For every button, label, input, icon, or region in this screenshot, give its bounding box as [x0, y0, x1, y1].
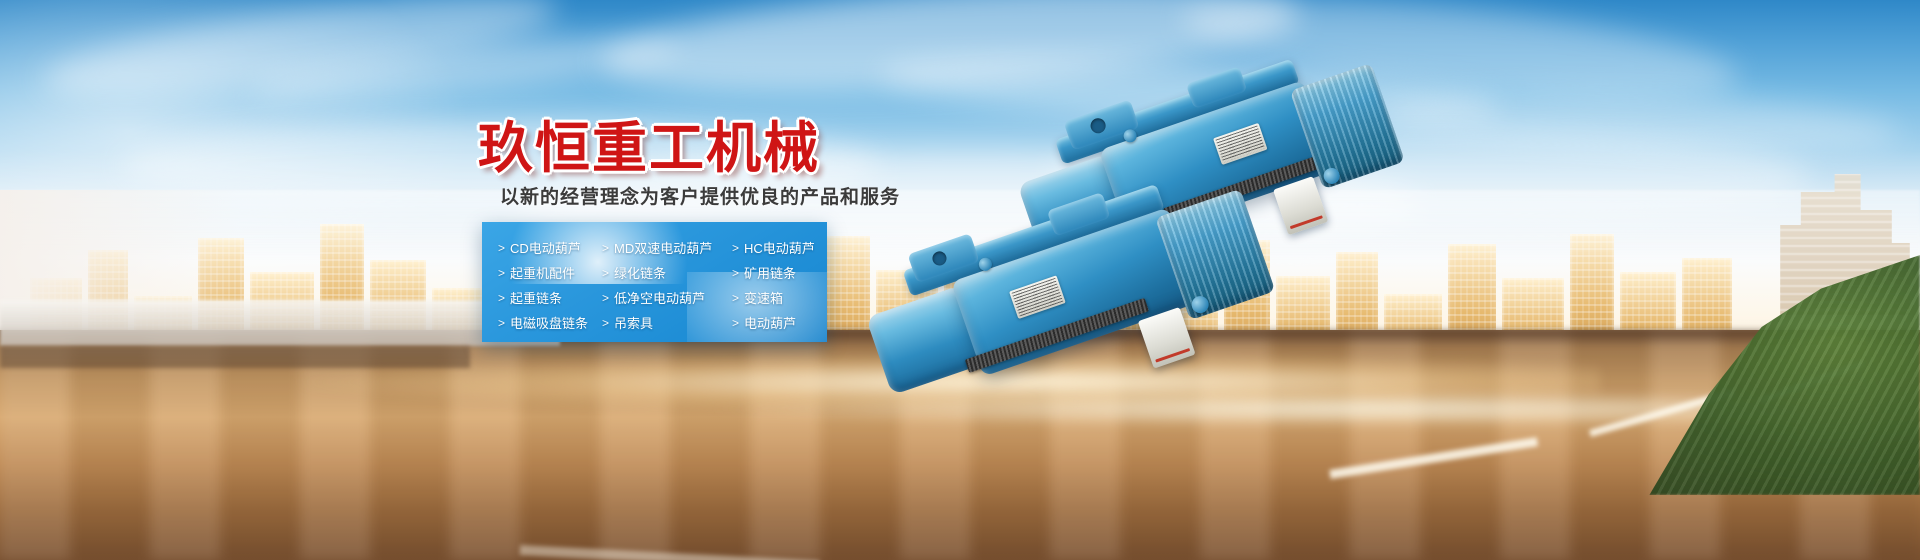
guardrail-shadow — [0, 346, 470, 368]
chevron-right-icon: > — [498, 316, 505, 331]
product-label: 变速箱 — [744, 291, 783, 306]
product-link[interactable]: > 电磁吸盘链条 — [498, 316, 602, 331]
product-label: 起重机配件 — [510, 266, 575, 281]
product-label: 低净空电动葫芦 — [614, 291, 705, 306]
chevron-right-icon: > — [498, 291, 505, 306]
page-title: 玖恒重工机械 — [478, 118, 898, 180]
product-list-panel: > CD电动葫芦 > MD双速电动葫芦 > HC电动葫芦 > 起重机配件 > 绿… — [482, 222, 827, 342]
tagline: 以新的经营理念为客户提供优良的产品和服务 — [500, 186, 920, 210]
product-link[interactable]: > 起重链条 — [498, 291, 602, 306]
product-link[interactable]: > 矿用链条 — [732, 266, 827, 281]
product-grid: > CD电动葫芦 > MD双速电动葫芦 > HC电动葫芦 > 起重机配件 > 绿… — [482, 222, 827, 336]
product-link[interactable]: > MD双速电动葫芦 — [602, 241, 732, 256]
product-link[interactable]: > 绿化链条 — [602, 266, 732, 281]
chevron-right-icon: > — [732, 291, 739, 306]
product-label: CD电动葫芦 — [510, 241, 581, 256]
product-link[interactable]: > 电动葫芦 — [732, 316, 827, 331]
chevron-right-icon: > — [602, 266, 609, 281]
product-link[interactable]: > 低净空电动葫芦 — [602, 291, 732, 306]
chevron-right-icon: > — [732, 266, 739, 281]
chevron-right-icon: > — [732, 241, 739, 256]
guardrail — [0, 300, 560, 346]
product-link[interactable]: > 起重机配件 — [498, 266, 602, 281]
product-label: 吊索具 — [614, 316, 653, 331]
chevron-right-icon: > — [602, 291, 609, 306]
chevron-right-icon: > — [498, 241, 505, 256]
chevron-right-icon: > — [602, 316, 609, 331]
chevron-right-icon: > — [732, 316, 739, 331]
chevron-right-icon: > — [602, 241, 609, 256]
product-label: 电磁吸盘链条 — [510, 316, 588, 331]
product-link[interactable]: > 吊索具 — [602, 316, 732, 331]
product-label: 矿用链条 — [744, 266, 796, 281]
product-link[interactable]: > 变速箱 — [732, 291, 827, 306]
product-label: 电动葫芦 — [744, 316, 796, 331]
product-label: 起重链条 — [510, 291, 562, 306]
product-label: 绿化链条 — [614, 266, 666, 281]
product-link[interactable]: > HC电动葫芦 — [732, 241, 827, 256]
chevron-right-icon: > — [498, 266, 505, 281]
product-label: MD双速电动葫芦 — [614, 241, 712, 256]
promo-banner: 玖恒重工机械 以新的经营理念为客户提供优良的产品和服务 > CD电动葫芦 > M… — [0, 0, 1920, 560]
product-link[interactable]: > CD电动葫芦 — [498, 241, 602, 256]
product-label: HC电动葫芦 — [744, 241, 815, 256]
